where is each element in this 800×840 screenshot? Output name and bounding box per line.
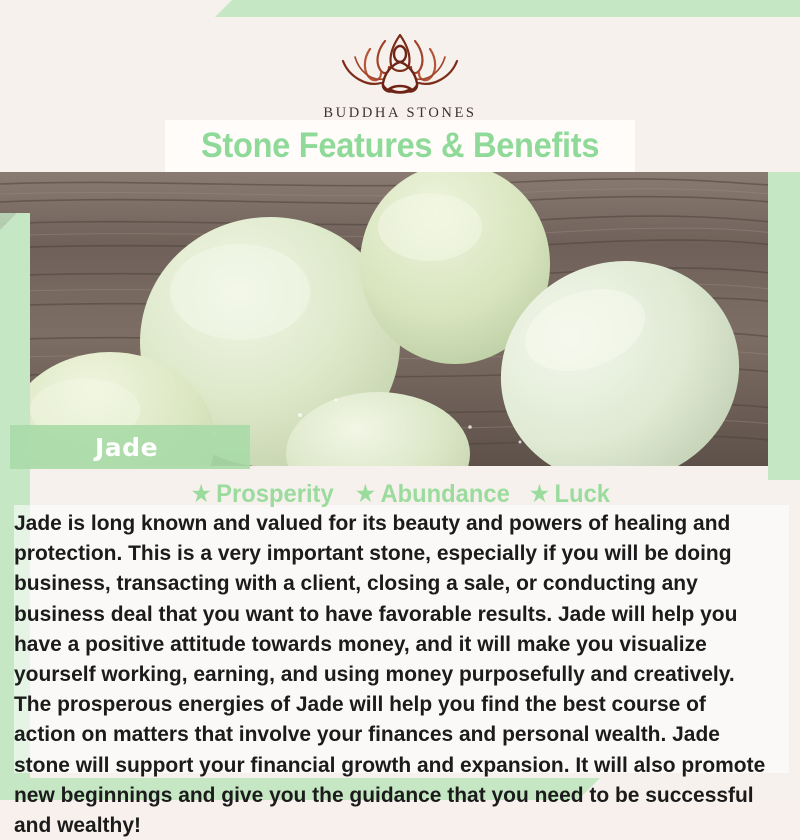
benefits-row: ★ Prosperity ★ Abundance ★ Luck [30, 478, 770, 510]
benefit-item: ★ Abundance [356, 480, 510, 509]
star-icon: ★ [192, 483, 211, 505]
page-title: Stone Features & Benefits [201, 126, 599, 166]
star-icon: ★ [530, 483, 549, 505]
decor-band-top [215, 0, 800, 17]
star-icon: ★ [356, 483, 375, 505]
stone-photo [0, 172, 800, 466]
benefit-item: ★ Prosperity [192, 480, 334, 509]
infographic-card: BUDDHA STONES Stone Features & Benefits … [0, 0, 800, 800]
title-plaque: Stone Features & Benefits [165, 120, 635, 172]
benefit-label: Prosperity [216, 480, 333, 509]
stone-description: Jade is long known and valued for its be… [14, 508, 770, 840]
brand-logo: BUDDHA STONES [323, 27, 476, 122]
benefit-item: ★ Luck [530, 480, 610, 509]
stone-name-text: Jade [95, 433, 158, 462]
lotus-meditation-icon [325, 27, 475, 101]
benefit-label: Luck [554, 480, 609, 509]
stone-name-label: Jade [10, 425, 250, 469]
decor-band-right-overlay [768, 170, 800, 470]
benefit-label: Abundance [380, 480, 509, 509]
